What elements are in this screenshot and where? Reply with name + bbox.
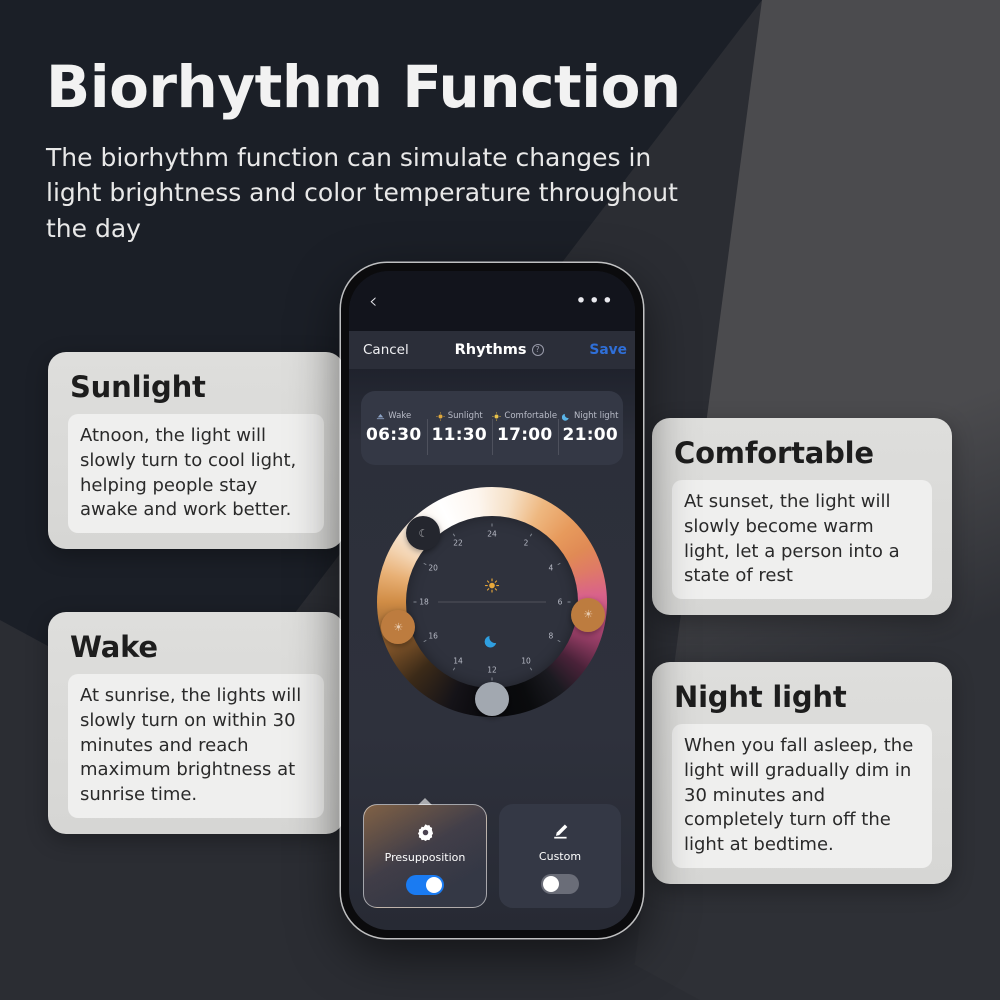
more-options-icon[interactable]: •••: [575, 292, 615, 311]
dial-hour-tick: [424, 639, 427, 641]
dial-hour-label: 10: [521, 656, 531, 665]
toggle-knob: [426, 877, 442, 893]
dial-hour-label: 22: [453, 539, 463, 548]
gear-icon: [416, 821, 435, 843]
callout-card-comfortable: Comfortable At sunset, the light will sl…: [652, 418, 952, 615]
dial-hour-label: 18: [419, 598, 429, 607]
moon-icon: [562, 412, 571, 421]
back-chevron-icon[interactable]: ‹: [369, 291, 377, 312]
callout-heading: Wake: [70, 630, 324, 664]
headline-block: Biorhythm Function The biorhythm functio…: [46, 57, 686, 246]
dial-hour-label: 16: [428, 632, 438, 641]
preset-time: 17:00: [497, 425, 553, 445]
dial-hour-tick: [452, 534, 454, 537]
callout-body: When you fall asleep, the light will gra…: [672, 724, 932, 868]
callout-heading: Comfortable: [674, 436, 932, 470]
app-navbar: ‹ •••: [349, 271, 635, 331]
callout-body: At sunset, the light will slowly become …: [672, 480, 932, 599]
callout-card-sunlight: Sunlight Atnoon, the light will slowly t…: [48, 352, 344, 549]
preset-label-group: Wake: [376, 411, 411, 421]
mode-selector: Presupposition Custom: [363, 804, 621, 908]
dial-hour-tick: [424, 562, 427, 564]
preset-comfortable[interactable]: Comfortable 17:00: [492, 411, 558, 445]
dial-hour-tick: [568, 602, 571, 603]
dial-hour-label: 4: [548, 564, 553, 573]
dial-hour-label: 8: [548, 632, 553, 641]
callout-card-night-light: Night light When you fall asleep, the li…: [652, 662, 952, 884]
dial-hour-tick: [492, 678, 493, 681]
pencil-icon: [551, 820, 570, 842]
sun-icon: [436, 412, 445, 421]
preset-label-group: Night light: [562, 411, 618, 421]
preset-time: 06:30: [366, 425, 422, 445]
preset-label-group: Comfortable: [492, 411, 557, 421]
preset-name: Sunlight: [448, 411, 483, 421]
dial-hour-tick: [414, 602, 417, 603]
sun-icon: [492, 412, 501, 421]
mode-label: Presupposition: [385, 851, 466, 864]
comfortable-handle[interactable]: ☀: [381, 610, 415, 644]
dial-hour-label: 2: [524, 539, 529, 548]
save-button[interactable]: Save: [589, 342, 627, 358]
biorhythm-dial[interactable]: 24681012141618202224 ☀☀☾: [377, 487, 607, 717]
dial-hour-tick: [452, 667, 454, 670]
cancel-button[interactable]: Cancel: [363, 342, 409, 358]
preset-time: 11:30: [431, 425, 487, 445]
dial-hour-label: 6: [558, 598, 563, 607]
dial-hour-tick: [529, 534, 531, 537]
callout-heading: Sunlight: [70, 370, 324, 404]
sunrise-icon: [376, 412, 385, 421]
mode-card-presupposition[interactable]: Presupposition: [363, 804, 487, 908]
callout-card-wake: Wake At sunrise, the lights will slowly …: [48, 612, 344, 834]
dial-hour-label: 24: [487, 530, 497, 539]
dial-hour-tick: [557, 562, 560, 564]
mode-card-custom[interactable]: Custom: [499, 804, 621, 908]
sunlight-handle[interactable]: [475, 682, 509, 716]
screen-title: Rhythms: [455, 342, 527, 358]
preset-name: Comfortable: [504, 411, 557, 421]
preset-wake[interactable]: Wake 06:30: [361, 411, 427, 445]
dial-hour-label: 20: [428, 564, 438, 573]
preset-label-group: Sunlight: [436, 411, 483, 421]
callout-heading: Night light: [674, 680, 932, 714]
header-title-group: Rhythms ?: [455, 342, 544, 358]
dial-hour-tick: [529, 667, 531, 670]
phone-mockup: ‹ ••• Cancel Rhythms ? Save Wake 06:30: [341, 263, 643, 938]
dial-moon-icon: [485, 633, 500, 652]
preset-name: Night light: [574, 411, 618, 421]
custom-toggle[interactable]: [541, 874, 579, 894]
dial-hour-tick: [492, 524, 493, 527]
dial-center-divider: [438, 602, 546, 603]
preset-times-card: Wake 06:30 Sunlight 11:30 Comfortable 17…: [361, 391, 623, 465]
night-light-handle[interactable]: ☾: [406, 516, 440, 550]
page-title: Biorhythm Function: [46, 57, 686, 118]
callout-body: At sunrise, the lights will slowly turn …: [68, 674, 324, 818]
dial-hour-tick: [557, 639, 560, 641]
callout-body: Atnoon, the light will slowly turn to co…: [68, 414, 324, 533]
dial-hour-label: 14: [453, 656, 463, 665]
app-header: Cancel Rhythms ? Save: [349, 331, 635, 369]
preset-sunlight[interactable]: Sunlight 11:30: [427, 411, 493, 445]
dial-hour-label: 12: [487, 666, 497, 675]
preset-time: 21:00: [562, 425, 618, 445]
dial-sun-icon: [485, 578, 500, 597]
phone-screen: ‹ ••• Cancel Rhythms ? Save Wake 06:30: [349, 271, 635, 930]
preset-night-light[interactable]: Night light 21:00: [558, 411, 624, 445]
presupposition-toggle[interactable]: [406, 875, 444, 895]
mode-label: Custom: [539, 850, 581, 863]
help-icon[interactable]: ?: [532, 344, 544, 356]
page-subtitle: The biorhythm function can simulate chan…: [46, 140, 686, 247]
wake-handle[interactable]: ☀: [571, 598, 605, 632]
toggle-knob: [543, 876, 559, 892]
preset-name: Wake: [388, 411, 411, 421]
